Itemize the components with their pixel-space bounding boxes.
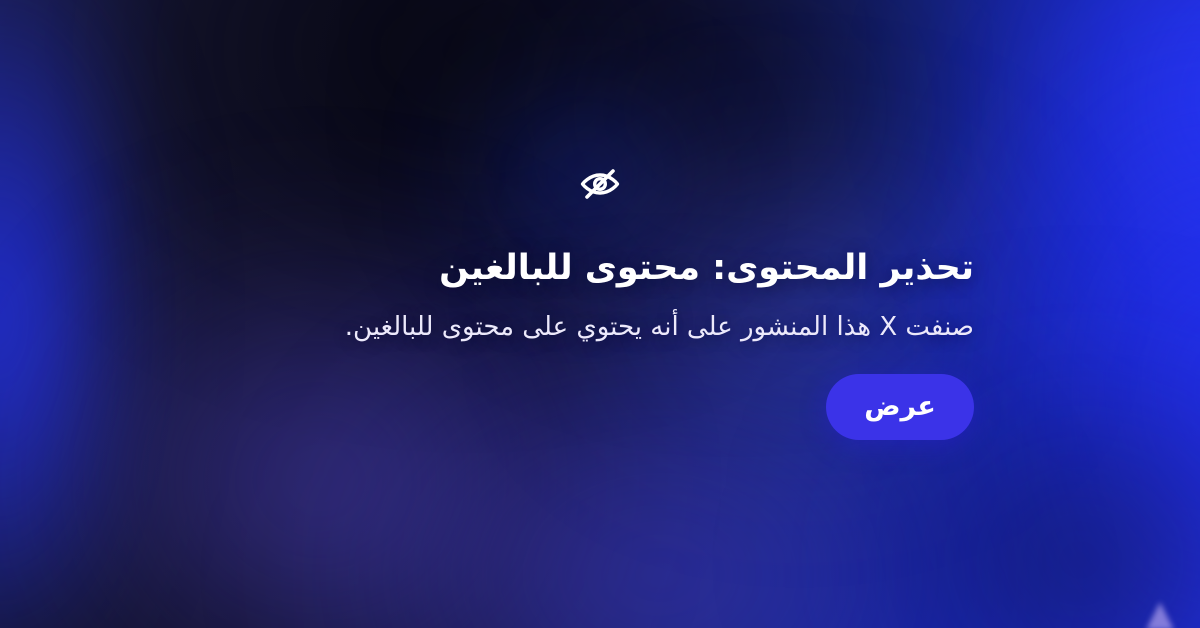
content-warning-overlay: تحذير المحتوى: محتوى للبالغين صنفت X هذا… [0, 0, 1200, 628]
warning-card: تحذير المحتوى: محتوى للبالغين صنفت X هذا… [226, 160, 974, 439]
view-button[interactable]: عرض [826, 374, 974, 440]
page-title: تحذير المحتوى: محتوى للبالغين [226, 246, 974, 291]
warning-description: صنفت X هذا المنشور على أنه يحتوي على محت… [226, 309, 974, 345]
eye-off-icon [576, 160, 624, 208]
overlay-content: تحذير المحتوى: محتوى للبالغين صنفت X هذا… [0, 0, 1200, 628]
action-row: عرض [226, 374, 974, 440]
